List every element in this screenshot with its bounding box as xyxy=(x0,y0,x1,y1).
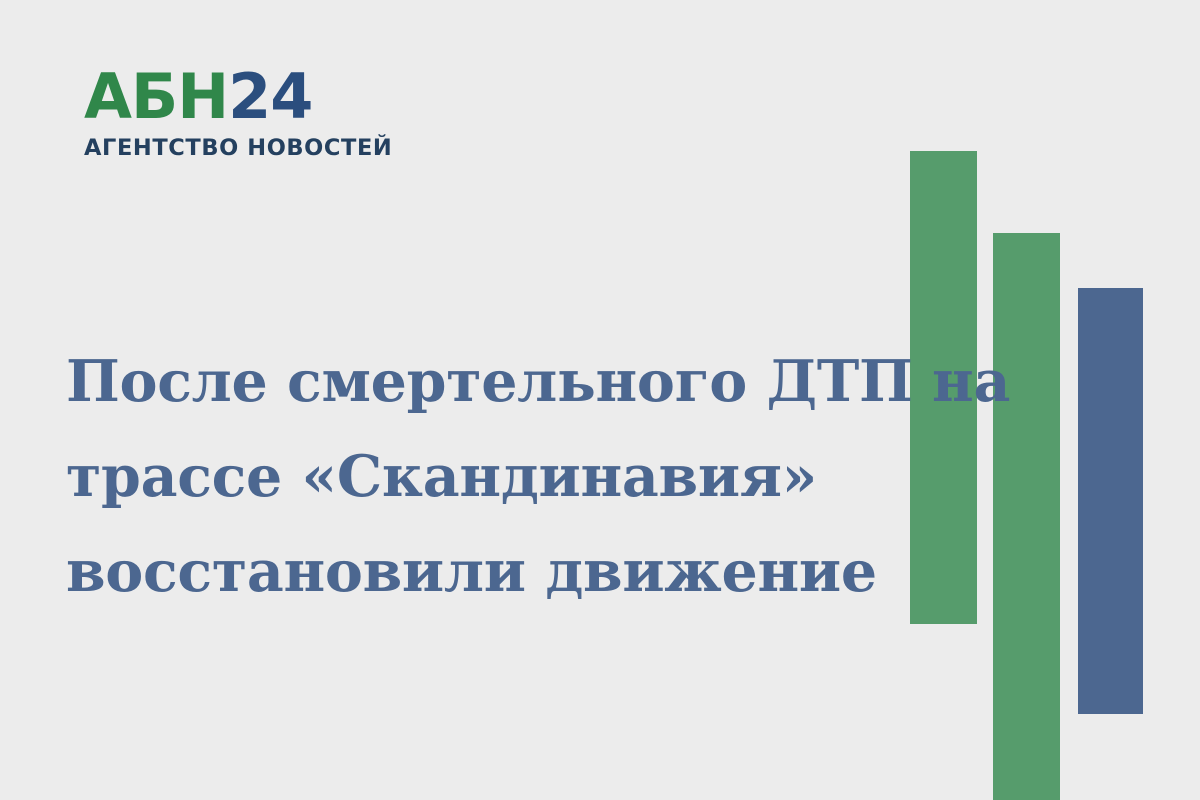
logo-wordmark-abn: АБН xyxy=(84,60,228,133)
logo-wordmark-24: 24 xyxy=(228,60,312,133)
headline-line-1: После смертельного ДТП на xyxy=(66,334,866,429)
logo-tagline: АГЕНТСТВО НОВОСТЕЙ xyxy=(84,135,374,161)
brand-logo[interactable]: АБН24 АГЕНТСТВО НОВОСТЕЙ xyxy=(84,66,374,162)
news-card: АБН24 АГЕНТСТВО НОВОСТЕЙ После смертельн… xyxy=(0,0,1200,800)
decoration-bar-3 xyxy=(1078,288,1143,714)
page-title: После смертельного ДТП на трассе «Сканди… xyxy=(66,334,866,619)
decoration-bar-2 xyxy=(993,233,1060,800)
logo-wordmark: АБН24 xyxy=(84,66,374,130)
headline-line-2: трассе «Скандинавия» xyxy=(66,429,866,524)
headline-line-3: восстановили движение xyxy=(66,524,866,619)
